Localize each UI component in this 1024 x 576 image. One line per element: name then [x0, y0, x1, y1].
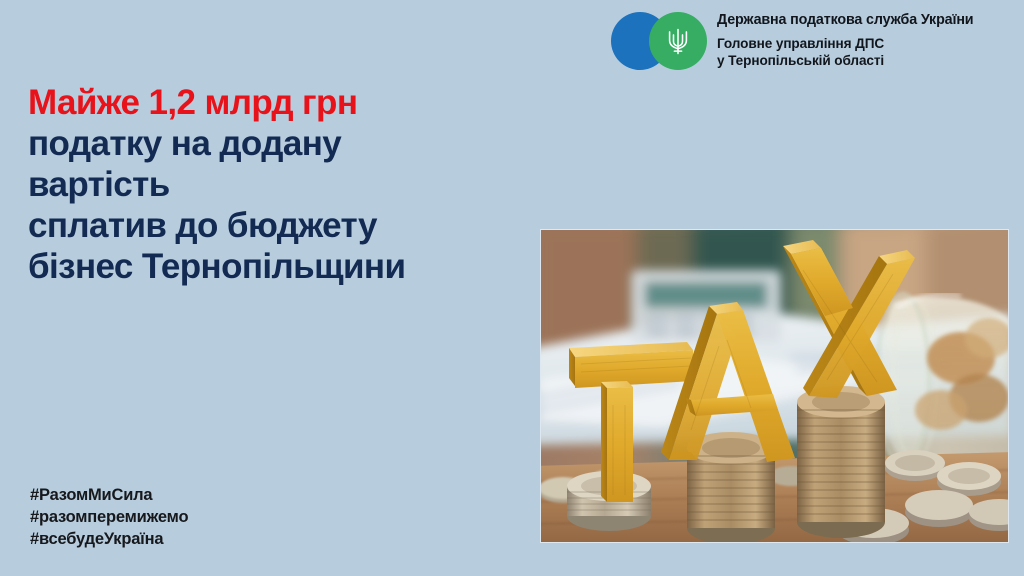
brand-title: Державна податкова служба України [717, 13, 973, 29]
headline-line-3: вартість [28, 164, 528, 205]
headline-line-4: сплатив до бюджету [28, 205, 528, 246]
hashtag-1: #РазомМиСила [30, 484, 188, 506]
headline-line-1: Майже 1,2 млрд грн [28, 82, 528, 123]
brand-subtitle: Головне управління ДПС у Тернопільській … [717, 35, 973, 70]
brand-subtitle-line-1: Головне управління ДПС [717, 35, 973, 52]
tax-coins-photo [541, 230, 1008, 542]
hashtag-block: #РазомМиСила #разомперемижемо #всебудеУк… [30, 484, 188, 550]
ukrainian-trident-icon [649, 12, 707, 70]
headline-block: Майже 1,2 млрд грн податку на додану вар… [28, 82, 528, 287]
headline-line-2: податку на додану [28, 123, 528, 164]
brand-subtitle-line-2: у Тернопільській області [717, 52, 973, 69]
headline-line-5: бізнес Тернопільщини [28, 246, 528, 287]
poster-canvas: Державна податкова служба України Головн… [0, 0, 1024, 576]
brand-text-block: Державна податкова служба України Головн… [717, 12, 973, 70]
hashtag-2: #разомперемижемо [30, 506, 188, 528]
dps-logo [611, 12, 707, 70]
hashtag-3: #всебудеУкраїна [30, 528, 188, 550]
brand-header: Державна податкова служба України Головн… [611, 12, 973, 70]
